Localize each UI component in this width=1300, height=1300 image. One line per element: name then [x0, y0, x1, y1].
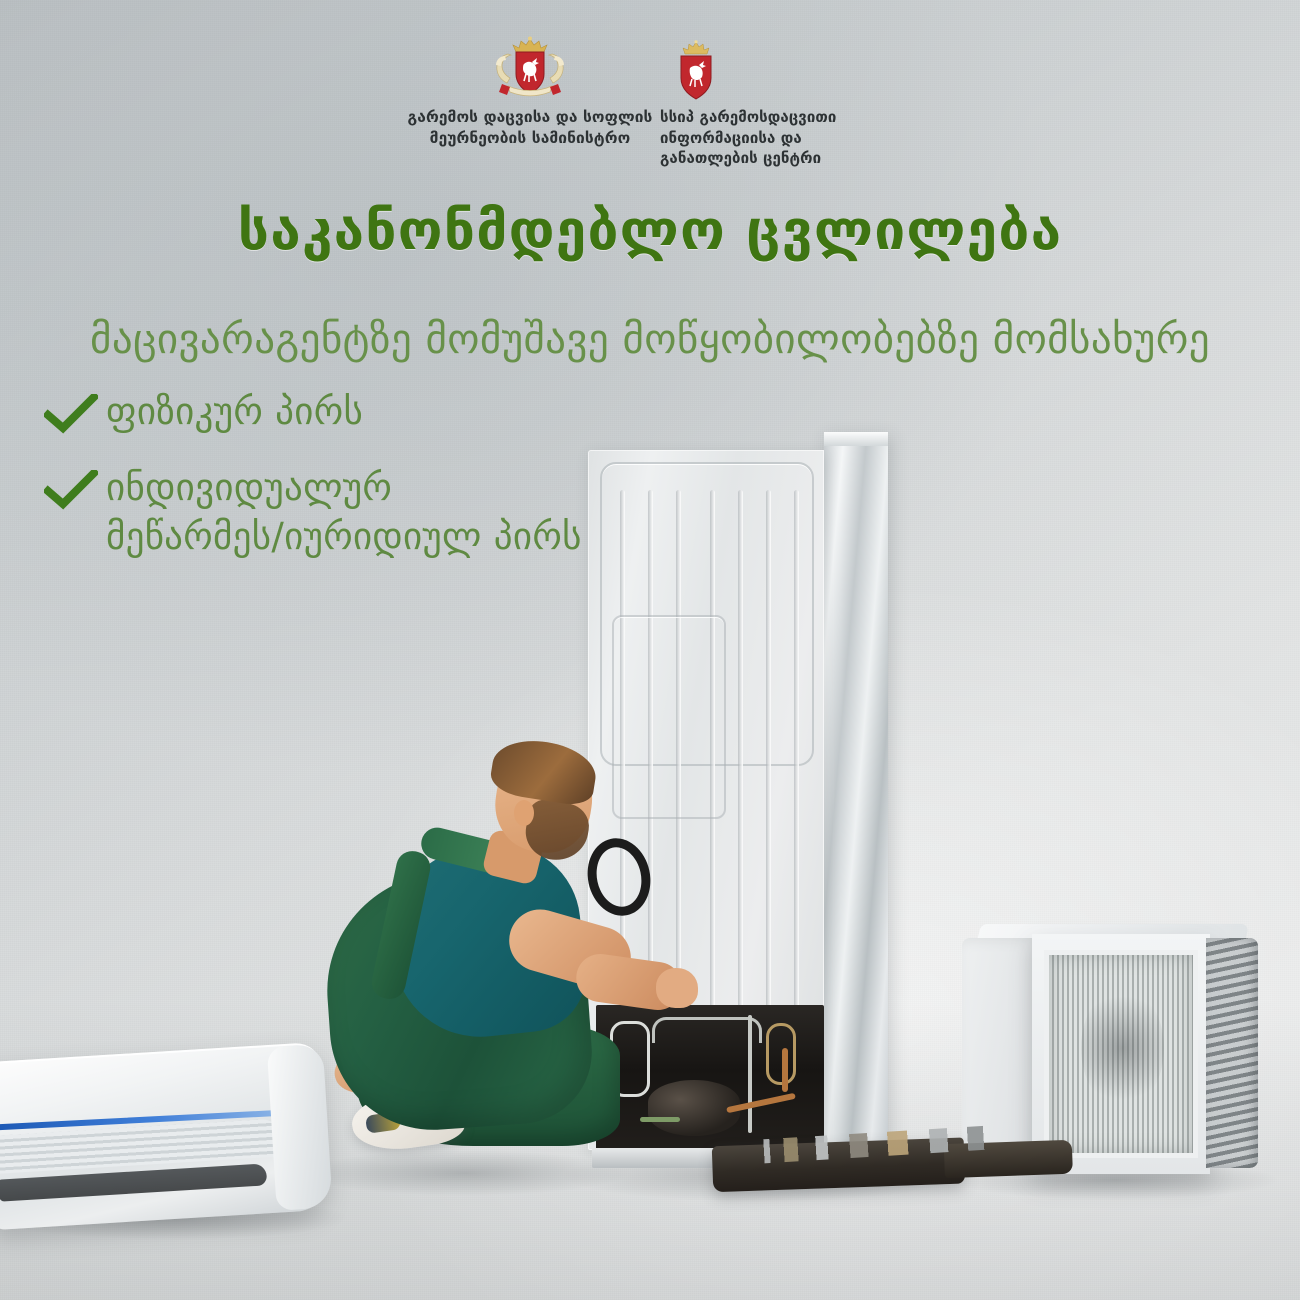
technician-kneeling-green-overalls — [300, 742, 660, 1182]
check-icon — [44, 470, 98, 514]
ac-outdoor-side-fins — [1206, 938, 1258, 1168]
cooling-coil — [766, 1023, 796, 1085]
technician-ear — [514, 800, 534, 826]
list-item: ინდივიდუალურ მეწარმეს/იურიდიულ პირს — [44, 464, 582, 562]
open-toolbox-with-tools — [711, 1110, 1073, 1193]
refrigerator-side-panel — [824, 432, 888, 1150]
cooling-coil — [748, 1015, 752, 1133]
bullet-label: ინდივიდუალურ მეწარმეს/იურიდიულ პირს — [98, 464, 582, 562]
coiled-hose — [581, 832, 658, 921]
page-title: საკანონმდებლო ცვლილება — [0, 198, 1300, 262]
list-item: ფიზიკურ პირს — [44, 388, 582, 438]
center-name: სსიპ გარემოსდაცვითი ინფორმაციისა და განა… — [660, 107, 960, 169]
bullet-list: ფიზიკურ პირს ინდივიდუალურ მეწარმეს/იურიდ… — [44, 388, 582, 588]
cooling-coil — [652, 1017, 762, 1043]
ac-indoor-end-cap — [267, 1044, 333, 1211]
page-subtitle: მაცივარაგენტზე მომუშავე მოწყობილობებზე მ… — [0, 315, 1300, 363]
poster-canvas: გარემოს დაცვისა და სოფლის მეურნეობის სამ… — [0, 0, 1300, 1300]
georgia-shield-crown-icon — [660, 34, 960, 102]
copper-pipe — [782, 1048, 788, 1092]
header-logos: გარემოს დაცვისა და სოფლის მეურნეობის სამ… — [0, 34, 1300, 164]
center-logo-block: სსიპ გარემოსდაცვითი ინფორმაციისა და განა… — [660, 34, 960, 169]
bullet-label: ფიზიკურ პირს — [98, 388, 363, 437]
check-icon — [44, 394, 98, 438]
air-conditioner-indoor-unit — [0, 1042, 331, 1230]
technician-hand — [656, 968, 698, 1008]
